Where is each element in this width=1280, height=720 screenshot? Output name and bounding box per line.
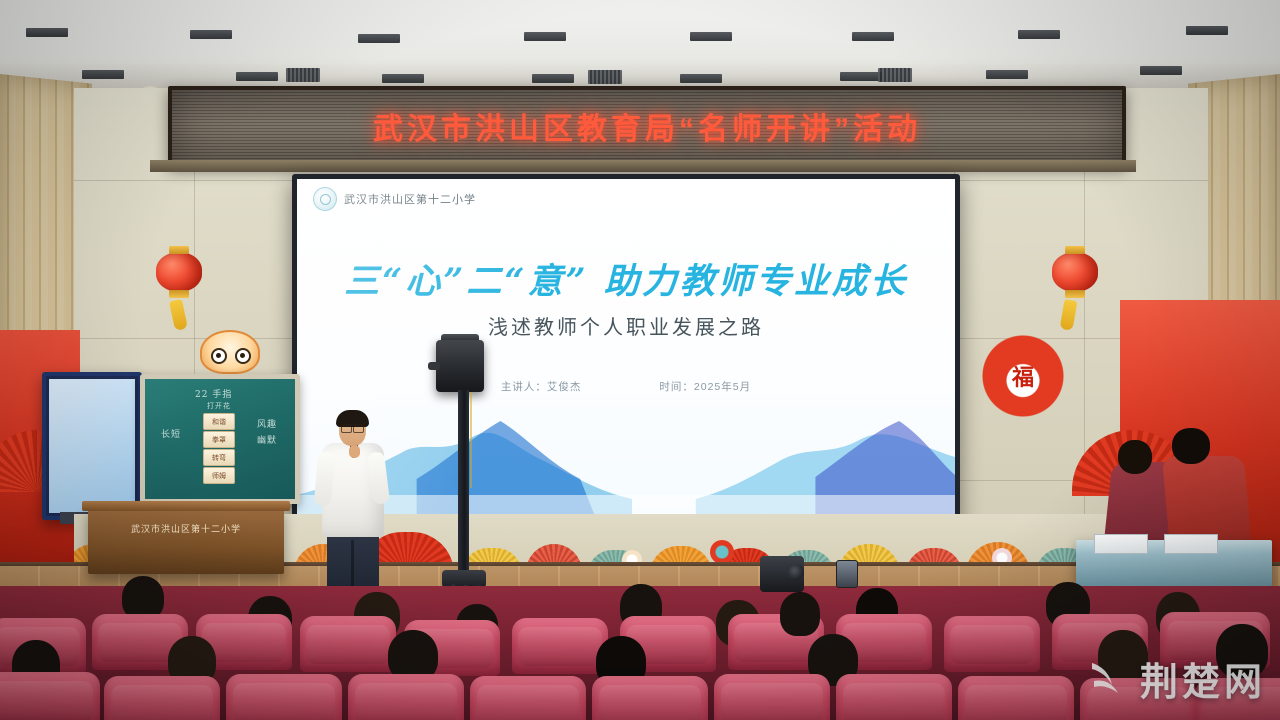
ceiling [0,0,1280,96]
name-card-1 [1094,534,1148,554]
watermark: 荆楚网 [1088,651,1266,706]
staff-1-head [1118,440,1152,474]
auditorium-seat [104,676,220,720]
auditorium-seat [944,616,1040,672]
fu-glyph: 福 [1012,360,1034,392]
blackboard-card-1: 和谐 [203,413,235,430]
slide-school-name: 武汉市洪山区第十二小学 [344,191,476,207]
auditorium-seat [958,676,1074,720]
auditorium-seat [592,676,708,720]
slide-subtitle: 浅述教师个人职业发展之路 [297,311,955,340]
auditorium-seat [0,672,100,720]
podium-sign-text: 武汉市洪山区第十二小学 [88,522,284,535]
school-emblem-icon [313,187,337,211]
lantern-right [1052,252,1098,292]
auditorium-seat [348,674,464,720]
auditorium-seat [512,618,608,674]
lantern-left [156,252,202,292]
smartphone [836,560,858,588]
auditorium-seat [836,674,952,720]
projection-screen: 武汉市洪山区第十二小学 三“心”二“意” 助力教师专业成长 浅述教师个人职业发展… [292,174,960,524]
blackboard-card-3: 转弯 [203,449,235,466]
blackboard-card-2: 拳罩 [203,431,235,448]
fu-character-decoration: 福 [980,330,1066,422]
slide-meta: 主讲人：艾俊杰 时间：2025年5月 [297,379,955,394]
blackboard-heading: 22 手指 [195,387,232,400]
slide-date: 时间：2025年5月 [659,379,751,394]
camera-knob [428,362,440,370]
handheld-camera [760,556,804,592]
led-banner-text: 武汉市洪山区教育局“名师开讲”活动 [373,104,921,148]
slide-mountain-artwork [297,399,955,519]
camera-cable [470,392,472,488]
podium: 武汉市洪山区第十二小学 [88,508,284,574]
blackboard-left-word: 长短 [161,427,181,440]
slide-title: 三“心”二“意” 助力教师专业成长 [297,253,955,304]
slide-content: 武汉市洪山区第十二小学 三“心”二“意” 助力教师专业成长 浅述教师个人职业发展… [297,179,955,519]
lion-dance-head-icon [200,330,260,374]
name-card-2 [1164,534,1218,554]
photo-scene: 武汉市洪山区教育局“名师开讲”活动 福 武汉市洪山区第十二小学 三“心”二“意”… [0,0,1280,720]
auditorium-seat [300,616,396,672]
watermark-text: 荆楚网 [1140,651,1266,706]
eyeglasses-icon [341,424,364,431]
auditorium-seat [226,674,342,720]
led-banner: 武汉市洪山区教育局“名师开讲”活动 [168,86,1126,166]
auditorium-seat [714,674,830,720]
vertical-display-monitor [42,372,142,520]
blackboard-subheading: 打开花 [207,401,231,411]
slide-presenter: 主讲人：艾俊杰 [501,379,582,394]
led-banner-frame [150,160,1136,172]
speaker-hand [349,445,360,458]
audience-head [780,592,820,636]
video-camera [436,340,484,392]
tripod-column [458,390,469,580]
podium-top-surface [82,501,290,511]
auditorium-seat [470,676,586,720]
staff-2-head [1172,428,1210,464]
blackboard-right-word-1: 风趣 [257,417,277,430]
slide-school-logo: 武汉市洪山区第十二小学 [313,187,476,211]
blackboard-card-4: 师姆 [203,467,235,484]
blackboard-right-word-2: 幽默 [257,433,277,446]
speaker-trousers [327,532,379,590]
watermark-logo-icon [1088,659,1130,699]
blackboard: 22 手指 打开花 长短 风趣 幽默 和谐 拳罩 转弯 师姆 [140,374,300,504]
